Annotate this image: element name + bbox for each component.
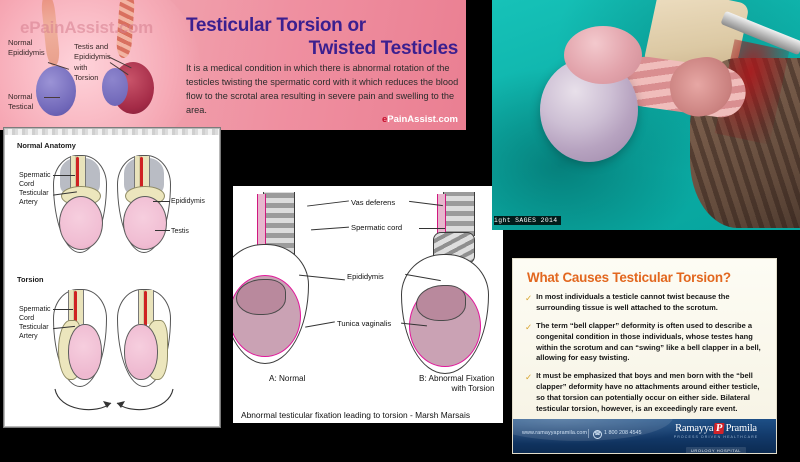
banner-title-line-2: Twisted Testicles [186, 37, 458, 60]
slide-bullet-item: ✓ The term “bell clapper” deformity is o… [525, 321, 769, 365]
banner-title-line-1: Testicular Torsion or [186, 14, 458, 37]
anatomy-leader-epididymis [153, 201, 170, 202]
brand-name-last: Pramila [726, 423, 757, 434]
tunica-figure-panel: Vas deferens Spermatic cord Epididymis T… [233, 186, 503, 423]
anatomy-leader-spermatic-cord [53, 175, 75, 176]
anatomy-label-testicular-artery-2: Testicular Artery [19, 323, 49, 341]
anatomy-label-spermatic-cord-2: Spermatic Cord [19, 305, 51, 323]
banner-leader-line-4 [44, 97, 60, 98]
footer-website[interactable]: www.ramayyapramila.com [522, 430, 587, 436]
rotation-arrows-icon [49, 385, 179, 419]
tunica-caption-b-line-1: B: Abnormal Fixation [419, 374, 495, 384]
tunica-caption-b: B: Abnormal Fixation with Torsion [419, 374, 495, 395]
surgical-photo-panel: ight SAGES 2014 [492, 0, 800, 230]
banner-label-normal-testical: Normal Testical [8, 92, 33, 113]
banner-title: Testicular Torsion or Twisted Testicles [186, 14, 458, 60]
tunica-leader-spermatic-cord-right [419, 228, 445, 229]
banner-description: It is a medical condition in which there… [186, 62, 462, 118]
slide-title: What Causes Testicular Torsion? [527, 270, 731, 285]
normal-scrotal-sac-right [117, 155, 171, 253]
brand-unit-label: UROLOGY HOSPITAL [686, 447, 746, 453]
brand-tagline: PROCESS DRIVEN HEALTHCARE [664, 435, 768, 439]
slide-bullet-item: ✓ It must be emphasized that boys and me… [525, 371, 769, 415]
tunica-credit: Abnormal testicular fixation leading to … [241, 410, 495, 420]
torsion-scrotal-sac-right [117, 289, 171, 387]
tunica-label-spermatic-cord: Spermatic cord [351, 223, 402, 232]
anatomy-label-testis: Testis [171, 227, 189, 236]
anatomy-leader-testis [155, 230, 170, 231]
torsion-scrotal-sac-left [53, 289, 107, 387]
normal-testicle-illustration [36, 66, 76, 116]
slide-bullet-text: The term “bell clapper” deformity is oft… [536, 321, 769, 365]
anatomy-leader-spermatic-cord-2 [53, 309, 73, 310]
tunica-torsion-spermatic-cord [443, 192, 475, 236]
hospital-brand-logo: RamayyaPPramila PROCESS DRIVEN HEALTHCAR… [664, 423, 768, 453]
brand-name-first: Ramayya [675, 423, 713, 434]
footer-separator [588, 429, 589, 438]
torsion-testis-left [68, 324, 102, 380]
tunica-leader-spermatic-cord-left [311, 227, 349, 231]
photo-copyright-watermark: ight SAGES 2014 [494, 216, 561, 225]
slide-bullet-list: ✓ In most individuals a testicle cannot … [525, 292, 769, 422]
torsed-testicle-illustration [112, 62, 154, 114]
tunica-normal-epididymis [236, 279, 286, 315]
testicle-upper-pole [564, 26, 642, 84]
tunica-leader-vas-deferens-left [307, 200, 349, 206]
anatomy-label-testicular-artery: Testicular Artery [19, 189, 49, 207]
epainassist-banner-panel: ePainAssist.com Normal Epididymis Testis… [0, 0, 466, 130]
torsion-testis-right [124, 324, 158, 380]
normal-testis-left [59, 196, 103, 250]
banner-label-normal-epididymis: Normal Epididymis [8, 38, 45, 59]
tunica-caption-b-line-2: with Torsion [419, 384, 495, 394]
normal-testis-right [123, 196, 167, 250]
logo-text: PainAssist.com [387, 114, 458, 125]
tunica-normal-sac [233, 244, 309, 364]
tunica-caption-a: A: Normal [269, 374, 305, 384]
phone-icon: ☎ [593, 430, 602, 439]
epainassist-logo: ePainAssist.com [382, 114, 458, 125]
normal-scrotal-sac-left [53, 155, 107, 253]
footer-phone-number: 1 800 208 4545 [604, 430, 641, 436]
what-causes-slide-panel: What Causes Testicular Torsion? ✓ In mos… [512, 258, 777, 454]
tunica-leader-tunica-vaginalis-left [305, 321, 335, 327]
anatomy-label-spermatic-cord: Spermatic Cord [19, 171, 51, 189]
slide-footer-bar: www.ramayyapramila.com ☎ 1 800 208 4545 … [513, 419, 776, 453]
anatomy-heading-normal: Normal Anatomy [17, 141, 76, 150]
tunica-label-tunica-vaginalis: Tunica vaginalis [337, 319, 391, 328]
slide-bullet-text: In most individuals a testicle cannot tw… [536, 292, 769, 314]
anatomy-heading-torsion: Torsion [17, 275, 44, 284]
collage-canvas: ePainAssist.com Normal Epididymis Testis… [0, 0, 800, 462]
check-icon: ✓ [525, 371, 532, 383]
banner-watermark: ePainAssist.com [20, 18, 153, 38]
scan-edge-artifact [5, 129, 219, 135]
tunica-torsion-epididymis [416, 285, 466, 321]
tunica-label-vas-deferens: Vas deferens [351, 198, 395, 207]
brand-p-badge: P [714, 423, 725, 434]
banner-label-torsion-testis: Testis and Epididymis with Torsion [74, 42, 111, 83]
tunica-torsion-sac [401, 254, 489, 374]
anatomy-label-epididymis: Epididymis [171, 197, 205, 206]
brand-name: RamayyaPPramila [664, 423, 768, 434]
anatomy-figure-panel: Normal Anatomy Spermatic Cord Testicular… [4, 128, 220, 427]
slide-bullet-text: It must be emphasized that boys and men … [536, 371, 769, 415]
tunica-label-epididymis: Epididymis [347, 272, 384, 281]
check-icon: ✓ [525, 321, 532, 333]
slide-bullet-item: ✓ In most individuals a testicle cannot … [525, 292, 769, 314]
check-icon: ✓ [525, 292, 532, 304]
